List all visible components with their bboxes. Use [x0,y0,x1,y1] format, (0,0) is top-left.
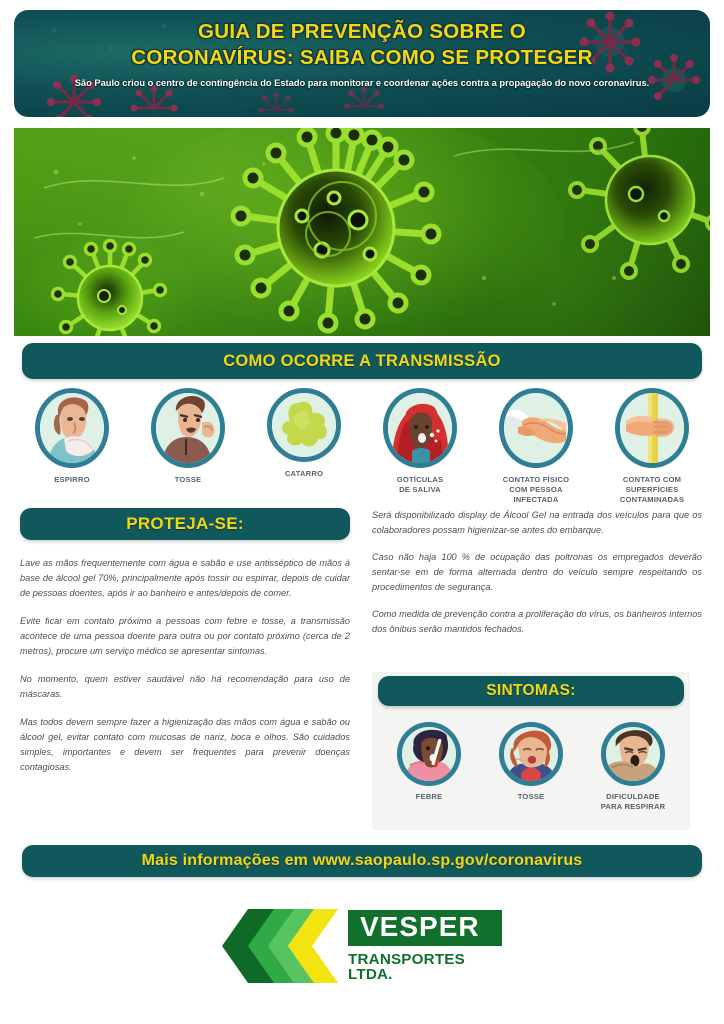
mucus-icon [267,388,341,462]
saliva-droplets-icon [383,388,457,468]
handshake-icon [499,388,573,468]
symptoms-heading-bar: SINTOMAS: [378,676,684,706]
transmission-label-espirro: ESPIRRO [54,475,90,485]
chevron-icon [222,909,342,983]
transmission-item-contato-fisico[interactable]: CONTATO FÍSICO COM PESSOA INFECTADA [484,388,588,506]
hand-on-pole-icon [615,388,689,468]
cough-man-icon [151,388,225,468]
symptom-item-tosse[interactable]: TOSSE [483,722,579,802]
logo-word: VESPER [348,910,502,946]
breathing-difficulty-icon [601,722,665,786]
cough-woman-icon [499,722,563,786]
transmission-label-superficies: CONTATO COM SUPERFÍCIES CONTAMINADAS [620,475,684,506]
transmission-label-contato-fisico: CONTATO FÍSICO COM PESSOA INFECTADA [503,475,570,506]
symptom-label-dificuldade: DIFICULDADE PARA RESPIRAR [601,792,666,812]
transmission-icon-row: ESPIRRO TOSSE [20,388,704,498]
transmission-label-catarro: CATARRO [285,469,323,479]
header-banner: GUIA DE PREVENÇÃO SOBRE O CORONAVÍRUS: S… [14,10,710,117]
protect-paragraph-2: Evite ficar em contato próximo a pessoas… [20,614,350,659]
infographic-page: GUIA DE PREVENÇÃO SOBRE O CORONAVÍRUS: S… [0,0,724,1024]
measures-paragraph-1: Será disponibilizado display de Álcool G… [372,508,702,538]
transmission-label-goticulas-l1: GOTÍCULAS DE SALIVA [397,475,444,494]
transmission-heading-bar: COMO OCORRE A TRANSMISSÃO [22,343,702,379]
vesper-logo: VESPER TRANSPORTES LTDA. [222,905,502,987]
logo-subtitle: TRANSPORTES LTDA. [348,952,502,982]
transmission-item-tosse[interactable]: TOSSE [136,388,240,485]
transmission-label-tosse: TOSSE [175,475,202,485]
protect-paragraph-3: No momento, quem estiver saudável não há… [20,672,350,702]
protect-paragraph-1: Lave as mãos frequentemente com água e s… [20,556,350,601]
footer-cta-bar[interactable]: Mais informações em www.saopaulo.sp.gov/… [22,845,702,877]
symptoms-heading-label: SINTOMAS: [486,682,575,700]
hero-virus-svg [14,128,710,336]
symptom-label-febre: FEBRE [416,792,443,802]
transmission-label-goticulas: GOTÍCULAS DE SALIVA [397,475,444,495]
protect-paragraph-4: Mas todos devem sempre fazer a higieniza… [20,715,350,775]
symptom-item-febre[interactable]: FEBRE [381,722,477,802]
hero-virus-image [14,128,710,336]
protect-heading-bar: PROTEJA-SE: [20,508,350,540]
fever-thermometer-icon [397,722,461,786]
measures-column: Será disponibilizado display de Álcool G… [372,508,702,649]
symptoms-icon-row: FEBRE TOSSE [378,722,684,826]
transmission-item-espirro[interactable]: ESPIRRO [20,388,124,485]
header-text-block: GUIA DE PREVENÇÃO SOBRE O CORONAVÍRUS: S… [14,10,710,117]
header-title-line2: CORONAVÍRUS: SAIBA COMO SE PROTEGER [131,46,593,69]
protect-column: PROTEJA-SE: Lave as mãos frequentemente … [20,508,350,788]
transmission-item-superficies[interactable]: CONTATO COM SUPERFÍCIES CONTAMINADAS [600,388,704,506]
sneeze-icon [35,388,109,468]
protect-heading-label: PROTEJA-SE: [126,514,244,534]
symptom-item-dificuldade[interactable]: DIFICULDADE PARA RESPIRAR [585,722,681,812]
header-title: GUIA DE PREVENÇÃO SOBRE O CORONAVÍRUS: S… [113,19,611,71]
transmission-item-goticulas[interactable]: GOTÍCULAS DE SALIVA [368,388,472,495]
transmission-label-superficies-text: CONTATO COM SUPERFÍCIES CONTAMINADAS [620,475,684,504]
transmission-item-catarro[interactable]: CATARRO [252,388,356,479]
measures-paragraph-3: Como medida de prevenção contra a prolif… [372,607,702,637]
logo-text-block: VESPER TRANSPORTES LTDA. [348,910,502,982]
measures-paragraph-2: Caso não haja 100 % de ocupação das polt… [372,550,702,595]
transmission-heading-label: COMO OCORRE A TRANSMISSÃO [223,352,501,371]
footer-cta-label: Mais informações em www.saopaulo.sp.gov/… [142,852,583,870]
header-subtitle: São Paulo criou o centro de contingência… [51,77,673,90]
header-title-line1: GUIA DE PREVENÇÃO SOBRE O [198,20,526,43]
symptom-label-tosse: TOSSE [518,792,545,802]
transmission-label-contato-fisico-text: CONTATO FÍSICO COM PESSOA INFECTADA [503,475,570,504]
